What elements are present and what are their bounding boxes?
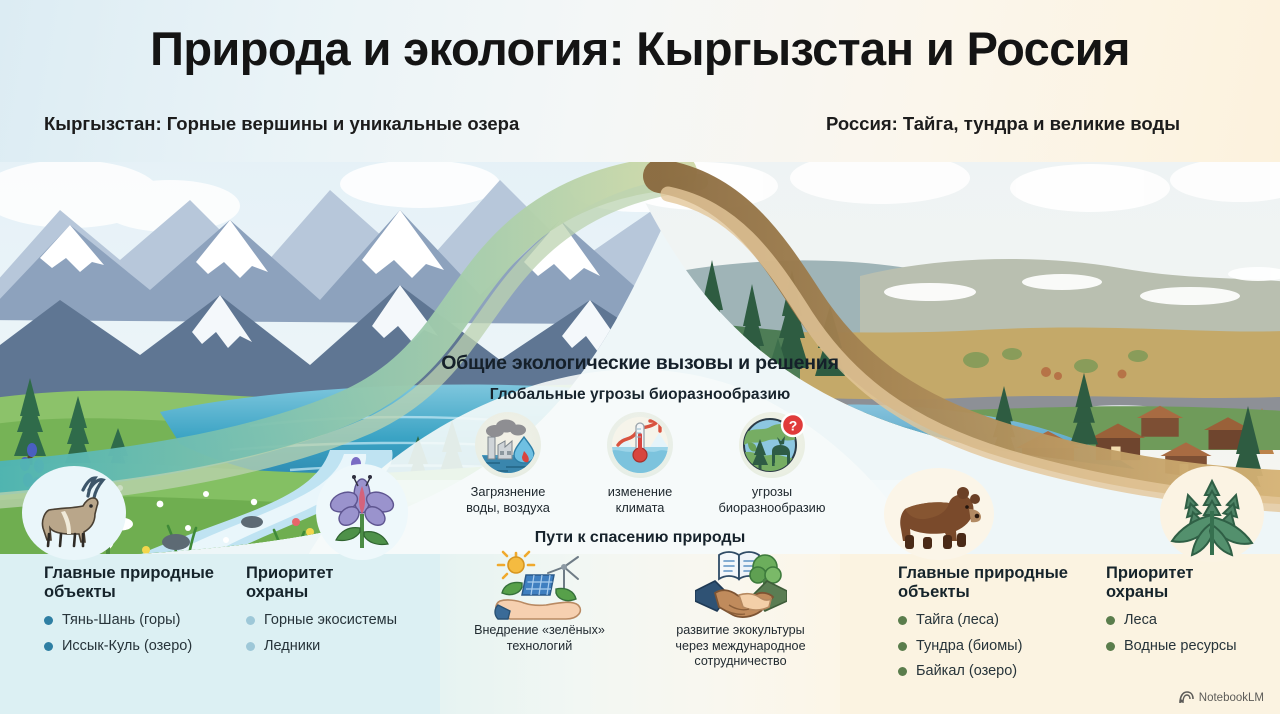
bullet-dot [898, 642, 907, 651]
list-item-label: Горные экосистемы [264, 613, 397, 628]
bullet-dot [1106, 616, 1115, 625]
list-item: Горные экосистемы [246, 613, 397, 628]
bullet-dot [246, 616, 255, 625]
watermark-label: NotebookLM [1199, 692, 1264, 704]
russia-objects-heading: Главные природные объекты [898, 564, 1068, 602]
russia-objects-block: Главные природные объекты Тайга (леса) Т… [898, 564, 1068, 690]
list-item-label: Иссык-Куль (озеро) [62, 639, 192, 654]
bullet-dot [898, 667, 907, 676]
climate-thermometer-icon [607, 412, 673, 478]
threats-row: Загрязнение воды, воздуха [440, 412, 840, 515]
solution-cooperation-caption: развитие экокультуры через международное… [675, 623, 805, 669]
list-item: Иссык-Куль (озеро) [44, 639, 214, 654]
iris-flower-badge [316, 464, 408, 560]
threats-heading: Глобальные угрозы биоразнообразию [440, 386, 840, 404]
russia-priority-list: Леса Водные ресурсы [1106, 613, 1237, 653]
subtitle-kyrgyzstan: Кыргызстан: Горные вершины и уникальные … [44, 113, 519, 135]
list-item: Тундра (биомы) [898, 639, 1068, 654]
bullet-dot [246, 642, 255, 651]
green-technology-icon [494, 549, 586, 621]
list-item-label: Леса [1124, 613, 1157, 628]
threat-pollution-caption: Загрязнение воды, воздуха [466, 484, 550, 515]
list-item-label: Байкал (озеро) [916, 664, 1017, 679]
list-item: Водные ресурсы [1106, 639, 1237, 654]
list-item: Леса [1106, 613, 1237, 628]
pollution-factory-icon [475, 412, 541, 478]
page-title: Природа и экология: Кыргызстан и Россия [0, 21, 1280, 76]
subtitle-russia: Россия: Тайга, тундра и великие воды [826, 113, 1180, 135]
center-column: Общие экологические вызовы и решения Гло… [440, 352, 840, 670]
list-item-label: Тундра (биомы) [916, 639, 1022, 654]
list-item-label: Тайга (леса) [916, 613, 999, 628]
kyrgyzstan-priority-heading: Приоритет охраны [246, 564, 397, 602]
kyrgyzstan-priority-list: Горные экосистемы Ледники [246, 613, 397, 653]
threat-biodiversity: ? угрозы биоразнообразию [709, 412, 835, 515]
list-item-label: Тянь-Шань (горы) [62, 613, 180, 628]
list-item: Тянь-Шань (горы) [44, 613, 214, 628]
center-title: Общие экологические вызовы и решения [440, 352, 840, 375]
threat-climate: изменение климата [577, 412, 703, 515]
threat-biodiversity-caption: угрозы биоразнообразию [719, 484, 826, 515]
svg-text:?: ? [789, 418, 798, 434]
russia-objects-list: Тайга (леса) Тундра (биомы) Байкал (озер… [898, 613, 1068, 679]
kyrgyzstan-objects-heading: Главные природные объекты [44, 564, 214, 602]
notebooklm-icon [1179, 691, 1194, 704]
solution-green-tech: Внедрение «зелёных» технологий [457, 549, 622, 669]
list-item: Байкал (озеро) [898, 664, 1068, 679]
russia-priority-block: Приоритет охраны Леса Водные ресурсы [1106, 564, 1237, 664]
solutions-row: Внедрение «зелёных» технологий [440, 549, 840, 669]
header: Природа и экология: Кыргызстан и Россия … [0, 0, 1280, 162]
bullet-dot [44, 642, 53, 651]
bullet-dot [898, 616, 907, 625]
threat-climate-caption: изменение климата [608, 484, 672, 515]
list-item-label: Ледники [264, 639, 320, 654]
watermark: NotebookLM [1179, 691, 1264, 704]
solution-green-tech-caption: Внедрение «зелёных» технологий [474, 623, 605, 654]
kyrgyzstan-objects-block: Главные природные объекты Тянь-Шань (гор… [44, 564, 214, 664]
kyrgyzstan-objects-list: Тянь-Шань (горы) Иссык-Куль (озеро) [44, 613, 214, 653]
bullet-dot [1106, 642, 1115, 651]
biodiversity-globe-icon: ? [739, 412, 805, 478]
ibex-badge [22, 466, 126, 560]
russia-priority-heading: Приоритет охраны [1106, 564, 1237, 602]
list-item: Ледники [246, 639, 397, 654]
list-item: Тайга (леса) [898, 613, 1068, 628]
brown-bear-badge [884, 468, 994, 560]
list-item-label: Водные ресурсы [1124, 639, 1237, 654]
handshake-cooperation-icon [695, 549, 787, 621]
taiga-plant-badge [1160, 466, 1264, 562]
threat-pollution: Загрязнение воды, воздуха [445, 412, 571, 515]
kyrgyzstan-priority-block: Приоритет охраны Горные экосистемы Ледни… [246, 564, 397, 664]
bullet-dot [44, 616, 53, 625]
infographic-canvas: Природа и экология: Кыргызстан и Россия … [0, 0, 1280, 714]
solution-cooperation: развитие экокультуры через международное… [658, 549, 823, 669]
solutions-heading: Пути к спасению природы [440, 529, 840, 547]
